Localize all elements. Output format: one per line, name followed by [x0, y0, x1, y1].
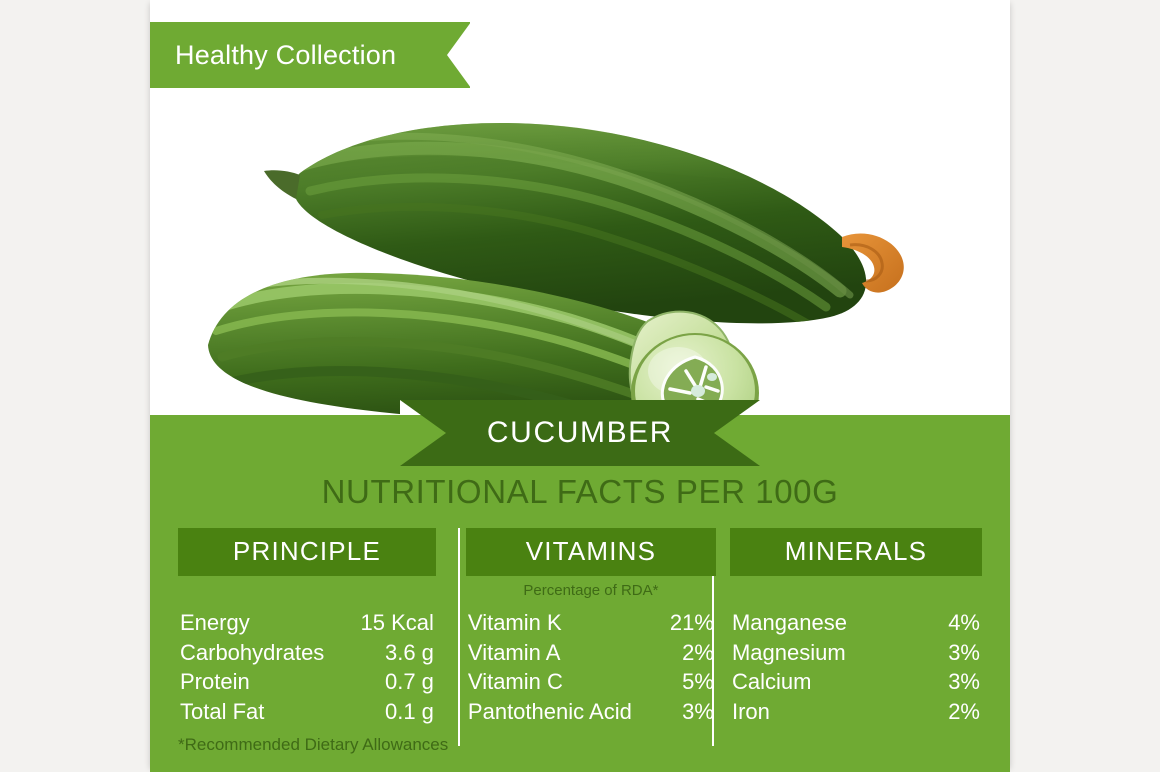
row-value: 0.1 g	[385, 697, 436, 727]
row-label: Energy	[178, 608, 250, 638]
table-row: Carbohydrates 3.6 g	[178, 638, 436, 668]
table-row: Vitamin A 2%	[466, 638, 716, 668]
row-value: 2%	[948, 697, 982, 727]
row-value: 15 Kcal	[361, 608, 436, 638]
row-value: 3%	[948, 667, 982, 697]
row-value: 3%	[682, 697, 716, 727]
row-label: Carbohydrates	[178, 638, 324, 668]
row-label: Vitamin K	[466, 608, 562, 638]
rda-footnote: *Recommended Dietary Allowances	[178, 735, 448, 755]
row-value: 2%	[682, 638, 716, 668]
cucumber-illustration	[150, 95, 1010, 415]
product-title-ribbon: CUCUMBER	[400, 400, 760, 466]
table-row: Calcium 3%	[730, 667, 982, 697]
healthy-collection-label: Healthy Collection	[175, 40, 396, 71]
row-value: 3%	[948, 638, 982, 668]
row-label: Pantothenic Acid	[466, 697, 632, 727]
row-value: 21%	[670, 608, 716, 638]
row-label: Magnesium	[730, 638, 846, 668]
row-value: 3.6 g	[385, 638, 436, 668]
row-label: Calcium	[730, 667, 811, 697]
infographic-page: Healthy Collection	[0, 0, 1160, 772]
row-label: Manganese	[730, 608, 847, 638]
row-value: 0.7 g	[385, 667, 436, 697]
infographic-card: Healthy Collection	[150, 0, 1010, 772]
product-title-label: CUCUMBER	[400, 400, 760, 466]
rows-vitamins: Vitamin K 21% Vitamin A 2% Vitamin C 5%	[466, 608, 716, 726]
column-header-principle: PRINCIPLE	[178, 528, 436, 576]
row-value: 4%	[948, 608, 982, 638]
row-label: Total Fat	[178, 697, 264, 727]
row-label: Vitamin C	[466, 667, 563, 697]
row-label: Iron	[730, 697, 770, 727]
facts-columns: PRINCIPLE Energy 15 Kcal Carbohydrates 3…	[178, 528, 982, 726]
table-row: Pantothenic Acid 3%	[466, 697, 716, 727]
column-vitamins: VITAMINS Percentage of RDA* Vitamin K 21…	[466, 528, 716, 726]
rows-principle: Energy 15 Kcal Carbohydrates 3.6 g Prote…	[178, 608, 436, 726]
table-row: Energy 15 Kcal	[178, 608, 436, 638]
table-row: Manganese 4%	[730, 608, 982, 638]
healthy-collection-badge: Healthy Collection	[150, 22, 470, 88]
column-minerals: MINERALS Manganese 4% Magnesium 3% Calci…	[730, 528, 982, 726]
table-row: Magnesium 3%	[730, 638, 982, 668]
table-row: Vitamin C 5%	[466, 667, 716, 697]
table-row: Iron 2%	[730, 697, 982, 727]
nutrition-facts-panel: NUTRITIONAL FACTS PER 100G PRINCIPLE Ene…	[150, 415, 1010, 772]
table-row: Protein 0.7 g	[178, 667, 436, 697]
row-label: Protein	[178, 667, 250, 697]
row-value: 5%	[682, 667, 716, 697]
table-row: Total Fat 0.1 g	[178, 697, 436, 727]
rows-minerals: Manganese 4% Magnesium 3% Calcium 3% I	[730, 608, 982, 726]
column-header-minerals: MINERALS	[730, 528, 982, 576]
table-row: Vitamin K 21%	[466, 608, 716, 638]
facts-heading: NUTRITIONAL FACTS PER 100G	[150, 473, 1010, 511]
column-principle: PRINCIPLE Energy 15 Kcal Carbohydrates 3…	[178, 528, 436, 726]
column-header-vitamins: VITAMINS	[466, 528, 716, 576]
column-subtitle-vitamins: Percentage of RDA*	[466, 576, 716, 601]
row-label: Vitamin A	[466, 638, 561, 668]
